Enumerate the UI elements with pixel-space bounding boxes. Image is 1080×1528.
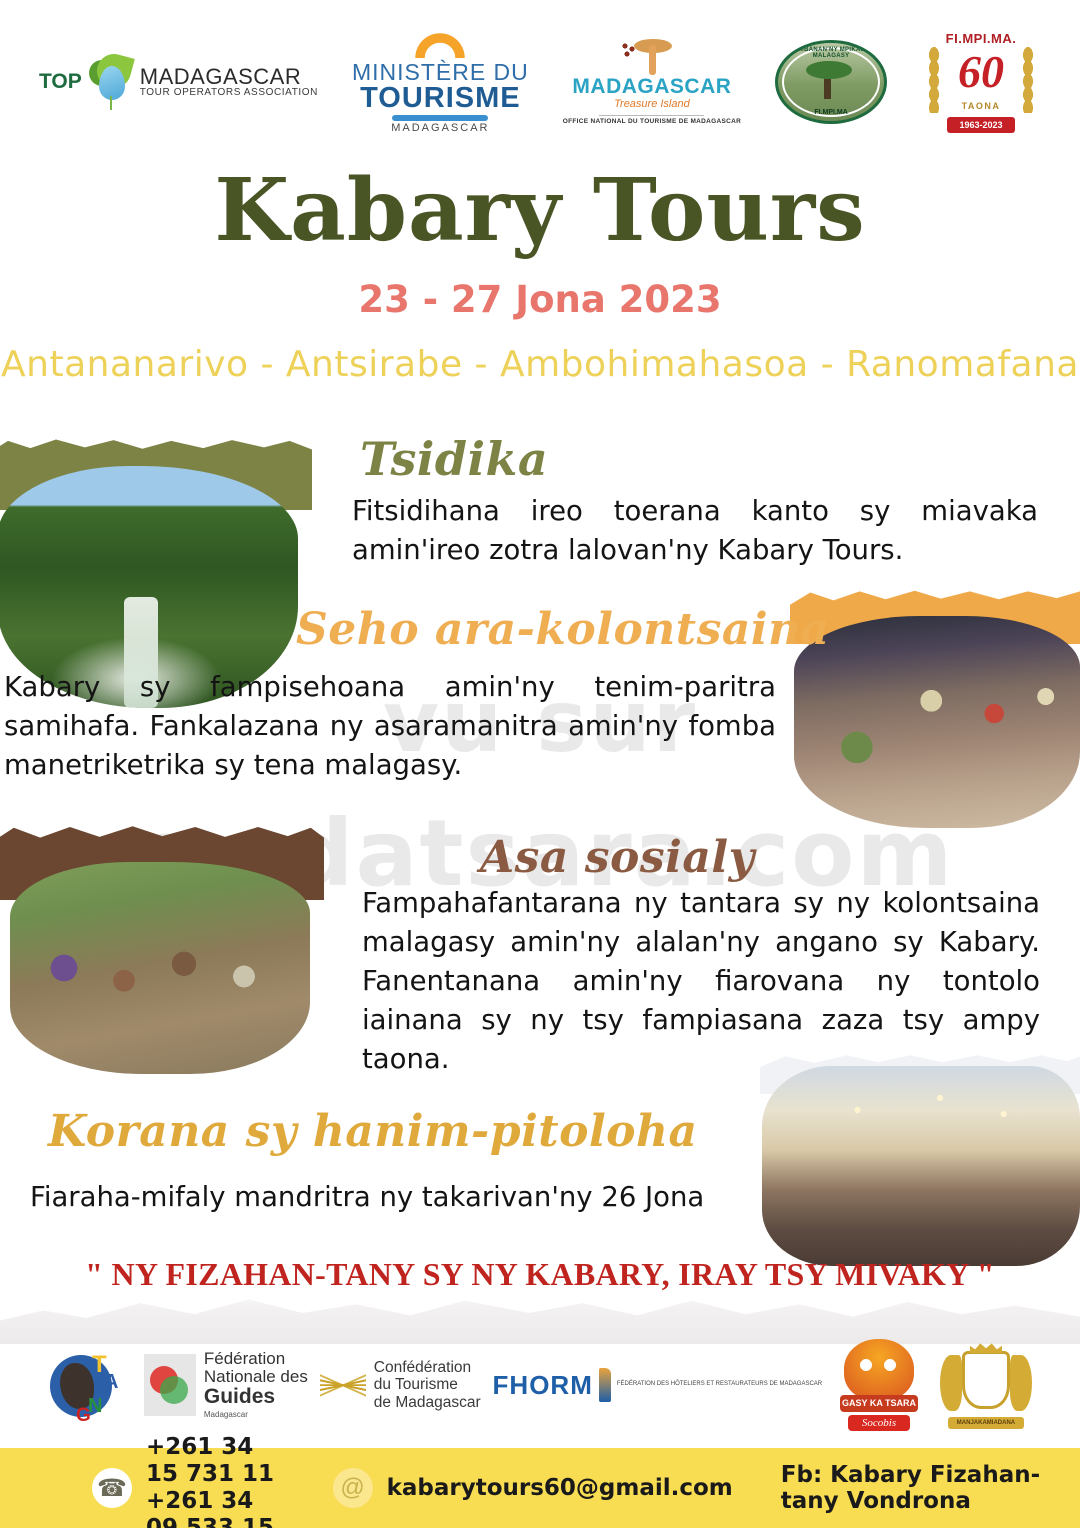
section-heading-asa-sosialy: Asa sosialy xyxy=(480,832,755,883)
section-body-tsidika: Fitsidihana ireo toerana kanto sy miavak… xyxy=(352,492,1038,570)
email-address[interactable]: kabarytours60@gmail.com xyxy=(387,1475,733,1501)
venn-circles-icon xyxy=(144,1354,196,1416)
phone-number-1[interactable]: +261 34 15 731 11 xyxy=(146,1434,290,1488)
logo-madagascar-treasure-island: MADAGASCAR Treasure Island OFFICE NATION… xyxy=(563,39,741,125)
sunrise-icon xyxy=(412,30,468,58)
fimpima-oval-top-text: FIKAMBANAN'NY MPIKABARY MALAGASY xyxy=(778,47,884,59)
crown-icon xyxy=(970,1341,1002,1353)
phone-contact-group[interactable]: ☎ +261 34 15 731 11 +261 34 09 533 15 xyxy=(92,1434,290,1528)
photo-banquet-hall xyxy=(762,1066,1080,1266)
flag-icon xyxy=(599,1368,611,1402)
top-madagascar-name: MADAGASCAR xyxy=(140,65,318,88)
crest-top-text: FI.MPI.MA. xyxy=(921,31,1041,46)
ministere-line-2: TOURISME xyxy=(360,84,521,113)
section-heading-seho-ara-kolontsaina: Seho ara-kolontsaina xyxy=(296,604,830,655)
ministere-line-1: MINISTÈRE DU xyxy=(352,61,529,84)
tang-letter-a: A xyxy=(104,1371,118,1394)
ministere-line-3: MADAGASCAR xyxy=(391,123,489,134)
email-contact-group[interactable]: @ kabarytours60@gmail.com xyxy=(333,1468,733,1508)
section-body-korana-sy-hanim-pitoloha: Fiaraha-mifaly mandritra ny takarivan'ny… xyxy=(30,1178,730,1217)
mascot-eyes-icon xyxy=(856,1359,900,1372)
socobis-band: GASY KA TSARA xyxy=(840,1395,918,1412)
wave-icon xyxy=(392,115,488,121)
baobab-tree-icon xyxy=(622,39,682,75)
contact-footer-bar: ☎ +261 34 15 731 11 +261 34 09 533 15 @ … xyxy=(0,1448,1080,1528)
treasure-island-line-1: MADAGASCAR xyxy=(572,75,731,99)
wheat-sheaf-icon xyxy=(320,1355,366,1415)
fng-line-3: Guides xyxy=(204,1386,308,1408)
photo-children-group xyxy=(10,862,310,1074)
logo-socobis: GASY KA TSARA Socobis xyxy=(834,1339,926,1431)
phone-icon: ☎ xyxy=(92,1468,132,1508)
sponsor-logo-bar-top: TOP MADAGASCAR TOUR OPERATORS ASSOCIATIO… xyxy=(0,0,1080,163)
slogan-text: " NY FIZAHAN-TANY SY NY KABARY, IRAY TSY… xyxy=(0,1256,1080,1293)
logo-fimpima-60-crest: FI.MPI.MA. 60 TAONA 1963-2023 xyxy=(921,27,1041,137)
facebook-page-name[interactable]: Fb: Kabary Fizahan-tany Vondrona xyxy=(781,1462,1080,1514)
section-heading-korana-sy-hanim-pitoloha: Korana sy hanim-pitoloha xyxy=(48,1106,698,1157)
divider xyxy=(599,115,704,116)
royal-crest-band: MANJAKAMIADANA xyxy=(948,1417,1024,1429)
crest-number: 60 xyxy=(921,49,1041,95)
event-cities: Antananarivo - Antsirabe - Ambohimahasoa… xyxy=(0,344,1080,385)
socobis-name: Socobis xyxy=(848,1415,910,1431)
page-title: Kabary Tours xyxy=(0,168,1080,254)
at-icon: @ xyxy=(333,1468,373,1508)
ctm-line-1: Confédération xyxy=(374,1359,481,1376)
event-dates: 23 - 27 Jona 2023 xyxy=(0,278,1080,321)
logo-federation-nationale-des-guides: Fédération Nationale des Guides Madagasc… xyxy=(144,1350,308,1420)
top-madagascar-tagline: TOUR OPERATORS ASSOCIATION xyxy=(140,88,318,99)
logo-top-madagascar: TOP MADAGASCAR TOUR OPERATORS ASSOCIATIO… xyxy=(39,52,318,112)
photo-cultural-performance xyxy=(794,616,1080,828)
top-madagascar-leaf-drop-icon xyxy=(87,52,135,112)
fng-line-2: Nationale des xyxy=(204,1368,308,1386)
treasure-island-line-3: OFFICE NATIONAL DU TOURISME DE MADAGASCA… xyxy=(563,118,741,125)
logo-fimpima-oval: FIKAMBANAN'NY MPIKABARY MALAGASY FI.MPI.… xyxy=(775,40,887,124)
crest-years: 1963-2023 xyxy=(947,117,1015,133)
baobab-canopy-icon xyxy=(806,61,852,79)
crest-wing-left-icon xyxy=(940,1355,962,1411)
tang-letter-g: G xyxy=(76,1405,91,1427)
logo-confederation-du-tourisme-de-madagascar: Confédération du Tourisme de Madagascar xyxy=(320,1355,481,1415)
fng-line-4: Madagascar xyxy=(204,1411,308,1419)
logo-ministere-du-tourisme: MINISTÈRE DU TOURISME MADAGASCAR xyxy=(352,30,529,134)
logo-royal-crest: MANJAKAMIADANA xyxy=(938,1339,1034,1431)
crest-taona: TAONA xyxy=(921,101,1041,111)
poster-root: vu sur madatsara.com TOP MADAGASCAR TOUR… xyxy=(0,0,1080,1528)
shield-icon xyxy=(962,1351,1010,1409)
phone-number-2[interactable]: +261 34 09 533 15 xyxy=(146,1488,290,1528)
treasure-island-line-2: Treasure Island xyxy=(614,98,690,110)
partner-logo-bar-bottom: T A N G Fédération Nationale des Guides … xyxy=(0,1330,1080,1440)
fimpima-oval-bottom-text: FI.MPI.MA xyxy=(778,109,884,116)
logo-tang: T A N G xyxy=(46,1343,132,1427)
crest-wing-right-icon xyxy=(1010,1355,1032,1411)
ctm-line-3: de Madagascar xyxy=(374,1394,481,1411)
fng-line-1: Fédération xyxy=(204,1350,308,1368)
section-heading-tsidika: Tsidika xyxy=(360,432,548,486)
section-body-seho-ara-kolontsaina: Kabary sy fampisehoana amin'ny tenim-par… xyxy=(0,668,776,785)
logo-fhorm: FHORM FÉDÉRATION DES HÔTELIERS ET RESTAU… xyxy=(493,1368,823,1402)
fhorm-subtitle: FÉDÉRATION DES HÔTELIERS ET RESTAURATEUR… xyxy=(617,1381,822,1389)
top-madagascar-word: TOP xyxy=(39,70,82,94)
fhorm-word: FHORM xyxy=(493,1370,593,1401)
section-body-asa-sosialy: Fampahafantarana ny tantara sy ny kolont… xyxy=(362,884,1040,1079)
ctm-line-2: du Tourisme xyxy=(374,1376,481,1393)
